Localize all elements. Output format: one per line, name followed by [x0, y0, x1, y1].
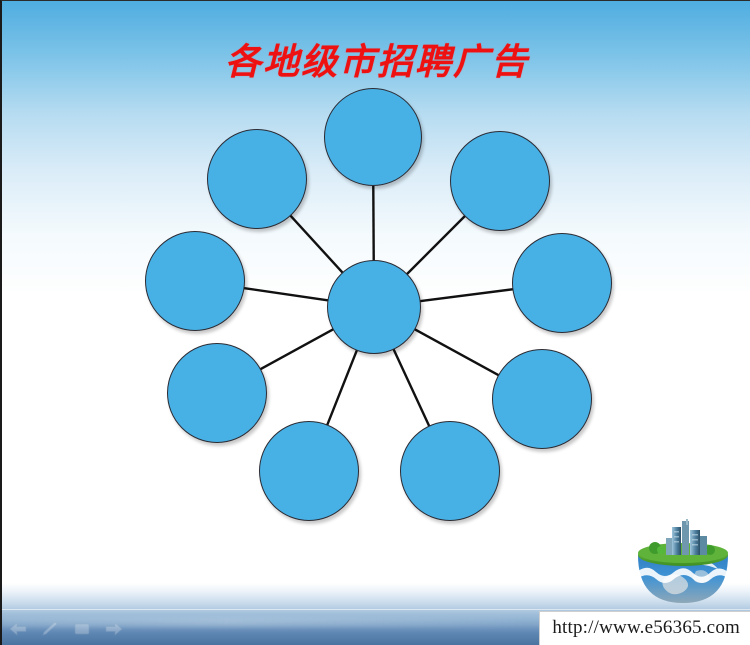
- connector-line: [393, 349, 429, 427]
- connector-line: [414, 329, 499, 375]
- node-top-left[interactable]: [207, 129, 307, 229]
- connector-line: [243, 288, 328, 300]
- watermark-url: http://www.e56365.com: [539, 611, 750, 645]
- arrow-left-icon[interactable]: [8, 621, 28, 637]
- presentation-slide: 各地级市招聘广告: [0, 0, 750, 645]
- node-top[interactable]: [324, 88, 422, 186]
- node-center[interactable]: [327, 260, 421, 354]
- node-bottom-east[interactable]: [400, 421, 500, 521]
- connector-line: [420, 289, 514, 301]
- connector-line: [407, 216, 466, 275]
- radial-diagram: [2, 1, 750, 561]
- pen-icon[interactable]: [40, 621, 60, 637]
- node-top-right[interactable]: [450, 131, 550, 231]
- arrow-right-icon[interactable]: [104, 621, 124, 637]
- slideshow-controls[interactable]: [8, 621, 124, 637]
- node-left[interactable]: [145, 231, 245, 331]
- node-bottom-west[interactable]: [259, 421, 359, 521]
- node-bottom-right[interactable]: [492, 349, 592, 449]
- connector-line: [260, 329, 334, 369]
- node-bottom-left[interactable]: [167, 343, 267, 443]
- connector-line: [290, 215, 343, 273]
- node-right[interactable]: [512, 233, 612, 333]
- menu-box-icon[interactable]: [72, 621, 92, 637]
- globe-eco-city-icon: [624, 519, 742, 605]
- connector-line: [327, 350, 357, 426]
